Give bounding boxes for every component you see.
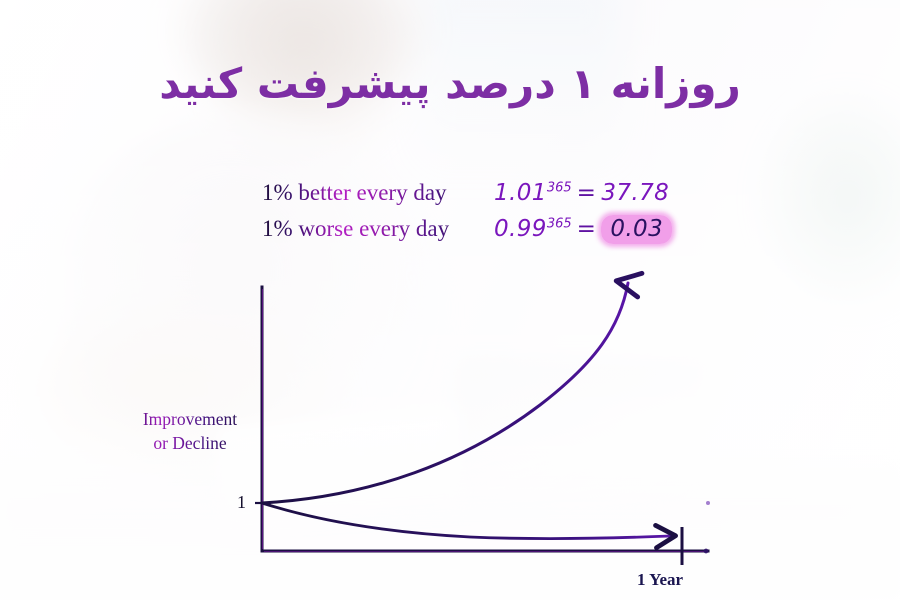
statements-block: 1% better every day 1.01365=37.78 1% wor… — [262, 180, 702, 252]
statement-label-better: 1% better every day — [262, 180, 494, 206]
y-tick-label-one: 1 — [237, 492, 246, 513]
equation-worse: 0.99365=0.03 — [494, 216, 672, 242]
slide-canvas: روزانه ۱ درصد پیشرفت کنید 1% better ever… — [0, 0, 900, 600]
y-axis-label-line2: or Decline — [153, 433, 226, 453]
y-axis-label: Improvement or Decline — [125, 408, 255, 455]
equation-result-better: 37.78 — [601, 180, 669, 206]
equation-equals-better: = — [572, 180, 602, 206]
equation-base-worse: 0.99 — [494, 216, 547, 242]
statement-row-worse: 1% worse every day 0.99365=0.03 — [262, 216, 702, 252]
equation-exponent-worse: 365 — [547, 216, 572, 231]
equation-base-better: 1.01 — [494, 180, 547, 206]
equation-equals-worse: = — [572, 216, 602, 242]
equation-result-worse-highlighted: 0.03 — [601, 215, 672, 244]
equation-better: 1.01365=37.78 — [494, 180, 669, 206]
background-plant — [760, 95, 900, 310]
page-title: روزانه ۱ درصد پیشرفت کنید — [0, 58, 900, 111]
statement-row-better: 1% better every day 1.01365=37.78 — [262, 180, 702, 216]
statement-label-worse: 1% worse every day — [262, 216, 494, 242]
equation-exponent-better: 365 — [547, 180, 572, 195]
y-axis-label-line1: Improvement — [143, 409, 237, 429]
x-axis-label: 1 Year — [637, 570, 683, 590]
